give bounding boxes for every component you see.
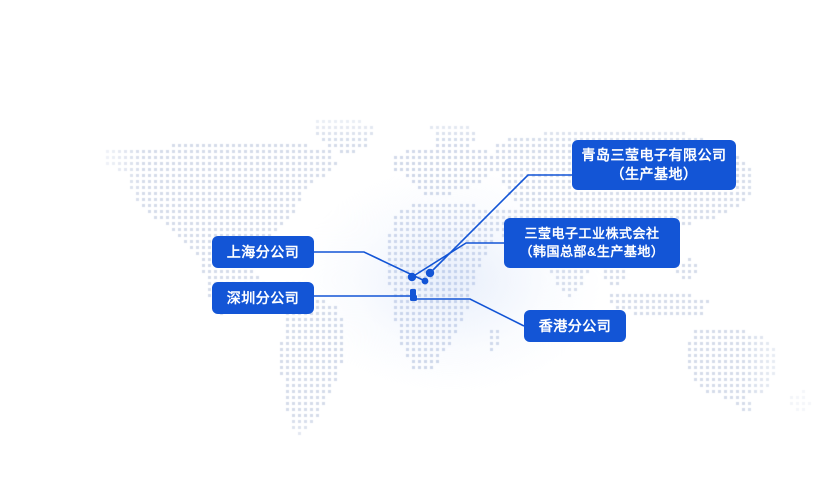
infographic-map-stage: 青岛三莹电子有限公司 （生产基地） 三莹电子工业株式会社 （韩国总部&生产基地）… — [0, 0, 824, 480]
label-korea-line1: 三莹电子工业株式会社 — [524, 225, 659, 243]
dotted-world-map — [0, 0, 824, 480]
label-hongkong-line1: 香港分公司 — [539, 317, 612, 336]
label-korea-line2: （韩国总部&生产基地） — [520, 243, 665, 261]
label-hongkong[interactable]: 香港分公司 — [524, 310, 626, 342]
label-qingdao-line1: 青岛三莹电子有限公司 — [582, 146, 727, 165]
label-shenzhen[interactable]: 深圳分公司 — [212, 282, 314, 314]
label-qingdao[interactable]: 青岛三莹电子有限公司 （生产基地） — [572, 140, 736, 190]
label-qingdao-line2: （生产基地） — [611, 165, 698, 184]
label-shanghai[interactable]: 上海分公司 — [212, 236, 314, 268]
label-shenzhen-line1: 深圳分公司 — [227, 289, 300, 308]
label-shanghai-line1: 上海分公司 — [227, 243, 300, 262]
label-korea-hq[interactable]: 三莹电子工业株式会社 （韩国总部&生产基地） — [504, 218, 680, 268]
